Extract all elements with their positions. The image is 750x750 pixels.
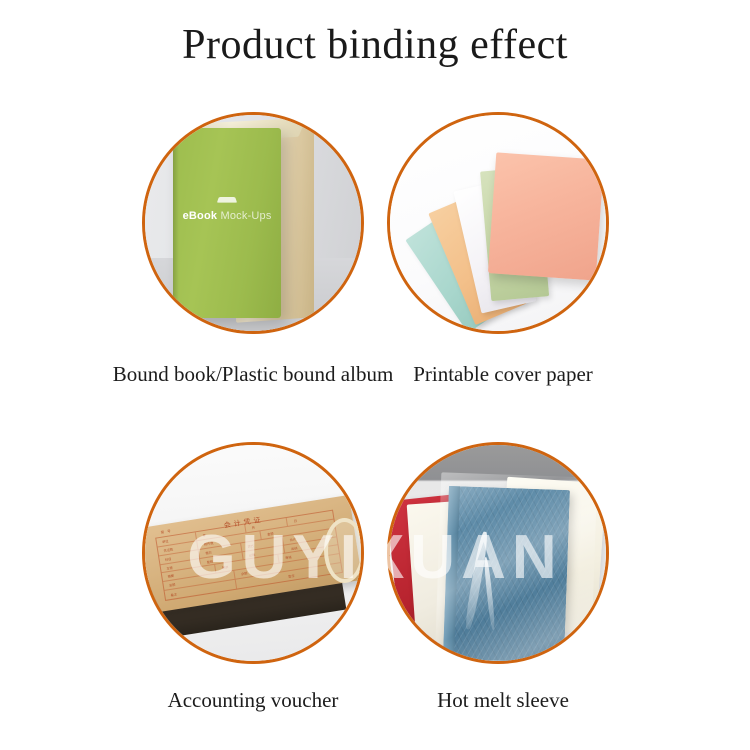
caption-hot-melt-sleeve: Hot melt sleeve xyxy=(338,688,668,713)
open-book-icon xyxy=(217,197,237,203)
product-cell-hot-melt-sleeve xyxy=(348,442,648,664)
voucher-cell-label: 借方 xyxy=(205,549,212,555)
voucher-cell-label: 合计 xyxy=(289,536,296,542)
circle-border-1: eBook Mock-Ups xyxy=(142,112,364,334)
logo-light-text: Mock-Ups xyxy=(217,210,271,222)
circle-border-4 xyxy=(387,442,609,664)
photo-green-hardcover-book: eBook Mock-Ups xyxy=(145,115,361,331)
caption-cover-paper: Printable cover paper xyxy=(338,362,668,387)
voucher-cell-label: 金额 xyxy=(267,531,274,537)
voucher-cell-label: 出纳 xyxy=(291,545,298,551)
voucher-cell-label: 月 xyxy=(251,525,255,530)
photo-hot-melt-sleeves xyxy=(390,445,606,661)
voucher-form-grid: 第 号 会计凭证 单位 年 月 日 xyxy=(155,510,342,601)
voucher-cell-label: 凭证数 xyxy=(163,546,173,552)
photo-fanned-cover-papers xyxy=(390,115,606,331)
circle-frame-3: 第 号 会计凭证 单位 年 月 日 xyxy=(142,442,364,664)
voucher-cell-label: 摘要 xyxy=(167,573,174,579)
photo1-logo-text: eBook Mock-Ups xyxy=(183,210,272,222)
voucher-cell-label: 年 xyxy=(202,532,206,537)
voucher-cell-label: 总额 xyxy=(169,582,176,588)
voucher-cell-label: 贷方 xyxy=(247,543,254,549)
product-showcase-page: Product binding effect eBook Mock-Ups xyxy=(0,0,750,750)
circle-frame-2 xyxy=(387,112,609,334)
voucher-cell-label: 审核 xyxy=(285,555,292,561)
voucher-cell-label: 签字 xyxy=(288,572,295,578)
voucher-cell-label: 单位 xyxy=(162,538,169,544)
clear-plastic-film xyxy=(434,473,596,661)
voucher-cell-label: 余额 xyxy=(241,570,248,576)
circle-border-3: 第 号 会计凭证 单位 年 月 日 xyxy=(142,442,364,664)
product-cell-cover-paper xyxy=(348,112,648,334)
voucher-cell-label: 制单 xyxy=(222,565,229,571)
photo1-book-cover: eBook Mock-Ups xyxy=(173,128,281,318)
voucher-cell-label: 附件数 xyxy=(204,540,214,546)
voucher-cell-label: 备注 xyxy=(170,591,177,597)
cover-sheet-pink xyxy=(487,152,603,280)
voucher-cell-label: 科目 xyxy=(165,556,172,562)
circle-frame-1: eBook Mock-Ups xyxy=(142,112,364,334)
logo-bold-text: eBook xyxy=(183,210,218,222)
circle-border-2 xyxy=(387,112,609,334)
circle-frame-4 xyxy=(387,442,609,664)
voucher-cell-label: 日 xyxy=(293,518,297,523)
photo1-cover-logo: eBook Mock-Ups xyxy=(173,196,281,223)
voucher-cell-label: 记账 xyxy=(248,551,255,557)
voucher-cell-label: 主管 xyxy=(166,564,173,570)
photo-kraft-accounting-voucher: 第 号 会计凭证 单位 年 月 日 xyxy=(145,445,361,661)
voucher-cell-label: 复核 xyxy=(206,558,213,564)
